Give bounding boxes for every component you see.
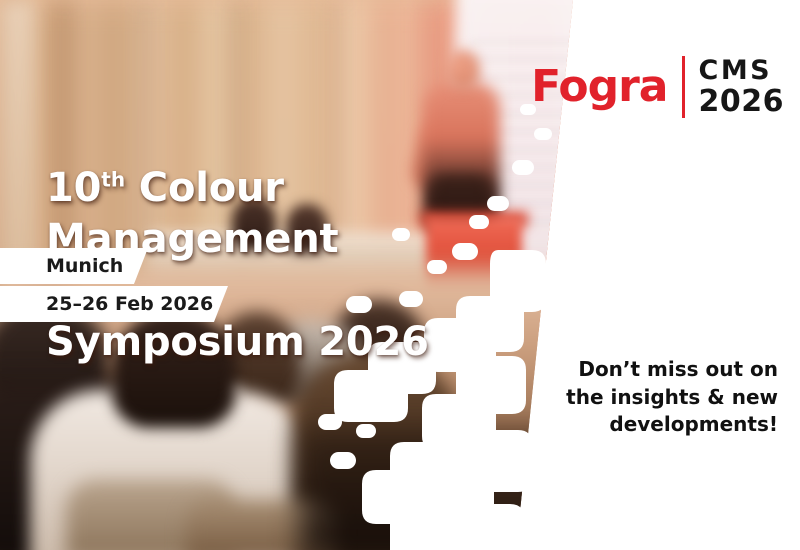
date-badge: 25–26 Feb 2026 [0,286,228,322]
fogra-wordmark: Fogra [531,65,681,109]
logo-event-year: 2026 [699,85,785,118]
event-title-line-2: Symposium 2026 [46,317,586,368]
city-badge-label: Munich [46,255,123,277]
fogra-cms-logo[interactable]: Fogra CMS 2026 [531,52,784,122]
tagline-text: Don’t miss out on the insights & new dev… [528,356,778,439]
logo-event-block: CMS 2026 [699,56,785,119]
date-badge-label: 25–26 Feb 2026 [46,293,213,315]
logo-divider-rule [682,56,685,118]
city-badge: Munich [0,248,148,284]
photo-speaker-head [446,50,480,90]
edition-number: 10 [46,165,101,211]
edition-ordinal-suffix: th [101,168,125,192]
logo-event-acronym: CMS [699,56,785,86]
photo-foreground-shadow [300,430,560,550]
event-banner: 10th Colour Management Symposium 2026 Mu… [0,0,800,550]
